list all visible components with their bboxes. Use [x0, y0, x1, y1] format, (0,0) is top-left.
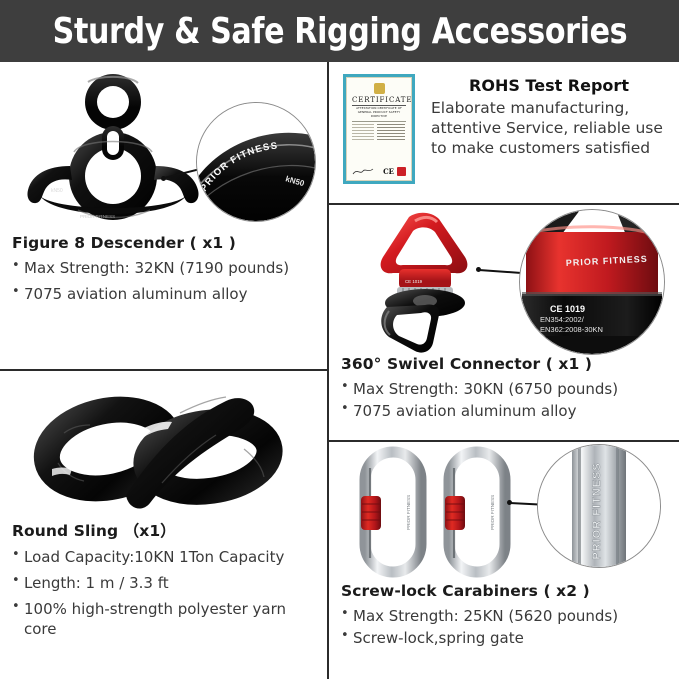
info-cell-rohs: CERTIFICATE ATTESTATION CERTIFICATE OF G…	[329, 64, 679, 203]
svg-text:kN50: kN50	[51, 188, 63, 194]
svg-text:CE 1019: CE 1019	[405, 279, 423, 284]
figure8-photo: kN50 PRIOR FITNESS	[0, 64, 327, 234]
certificate-rule	[352, 121, 406, 122]
sling-bullets: Load Capacity:10KN 1Ton Capacity Length:…	[12, 548, 317, 639]
swivel-magnifier: PRIOR FITNESS CE 1019 EN354:2002/ EN362:…	[519, 209, 665, 355]
carabiner-magnifier: PRIOR FITNESS	[537, 444, 661, 568]
bullet-item: Max Strength: 32KN (7190 pounds)	[12, 259, 317, 278]
carabiners-photo: PRIOR FITNESS PRIOR FITNESS	[329, 442, 679, 582]
figure8-title: Figure 8 Descender ( x1 )	[12, 234, 317, 252]
svg-text:CE 1019: CE 1019	[550, 304, 585, 314]
figure8-text-block: Figure 8 Descender ( x1 ) Max Strength: …	[0, 234, 327, 304]
header-banner: Sturdy & Safe Rigging Accessories	[0, 0, 679, 62]
certificate-row	[352, 124, 406, 125]
certificate-seal-icon	[374, 83, 385, 94]
figure8-descender-illustration: kN50 PRIOR FITNESS	[18, 70, 208, 230]
bullet-item: 7075 aviation aluminum alloy	[341, 402, 669, 421]
rohs-title: ROHS Test Report	[431, 76, 667, 95]
bullet-item: Length: 1 m / 3.3 ft	[12, 574, 317, 593]
bullet-item: Load Capacity:10KN 1Ton Capacity	[12, 548, 317, 567]
swivel-connector-illustration: CE 1019	[347, 211, 497, 353]
certificate-row	[352, 133, 406, 134]
bullet-item: Max Strength: 25KN (5620 pounds)	[341, 607, 669, 626]
bullet-item: Screw-lock,spring gate	[341, 629, 669, 648]
swivel-bullets: Max Strength: 30KN (6750 pounds) 7075 av…	[341, 380, 669, 421]
rohs-text-block: ROHS Test Report Elaborate manufacturing…	[431, 74, 667, 158]
rohs-description: Elaborate manufacturing, attentive Servi…	[431, 98, 667, 158]
carabiners-text-block: Screw-lock Carabiners ( x2 ) Max Strengt…	[329, 582, 679, 648]
round-sling-illustration	[30, 383, 300, 513]
carabiner-illustration-2: PRIOR FITNESS	[439, 446, 515, 578]
signature-mark-icon	[352, 166, 374, 176]
swivel-text-block: 360° Swivel Connector ( x1 ) Max Strengt…	[329, 355, 679, 421]
bullet-item: Max Strength: 30KN (6750 pounds)	[341, 380, 669, 399]
certificate-row	[352, 139, 406, 140]
product-cell-figure8: kN50 PRIOR FITNESS	[0, 64, 327, 369]
ce-mark-label: CE	[383, 167, 394, 176]
certificate-heading: CERTIFICATE	[352, 96, 406, 106]
sling-photo	[0, 371, 327, 519]
figure8-bullets: Max Strength: 32KN (7190 pounds) 7075 av…	[12, 259, 317, 304]
certificate-row	[352, 130, 406, 131]
product-cell-carabiners: PRIOR FITNESS PRIOR FITNESS	[329, 442, 679, 679]
swivel-photo: CE 1019	[329, 205, 679, 355]
svg-text:EN362:2008-30KN: EN362:2008-30KN	[540, 325, 603, 334]
bullet-item: 7075 aviation aluminum alloy	[12, 285, 317, 304]
svg-text:PRIOR FITNESS: PRIOR FITNESS	[490, 495, 495, 530]
figure8-magnifier: PRIOR FITNESS kN50	[196, 102, 316, 222]
certificate-thumbnail: CERTIFICATE ATTESTATION CERTIFICATE OF G…	[343, 74, 415, 184]
carabiners-title: Screw-lock Carabiners ( x2 )	[341, 582, 669, 600]
swivel-title: 360° Swivel Connector ( x1 )	[341, 355, 669, 373]
certificate-footer: CE	[352, 166, 406, 176]
svg-text:EN354:2002/: EN354:2002/	[540, 315, 585, 324]
sling-text-block: Round Sling （x1） Load Capacity:10KN 1Ton…	[0, 519, 327, 639]
carabiners-bullets: Max Strength: 25KN (5620 pounds) Screw-l…	[341, 607, 669, 648]
svg-text:PRIOR FITNESS: PRIOR FITNESS	[591, 462, 603, 559]
svg-text:PRIOR FITNESS: PRIOR FITNESS	[80, 214, 115, 219]
sling-title: Round Sling （x1）	[12, 519, 317, 541]
red-certification-icon	[397, 167, 406, 176]
product-cell-sling: Round Sling （x1） Load Capacity:10KN 1Ton…	[0, 371, 327, 679]
carabiner-illustration-1: PRIOR FITNESS	[355, 446, 431, 578]
infographic-page: Sturdy & Safe Rigging Accessories	[0, 0, 679, 679]
certificate-subtitle-2: GENERAL PRODUCT SAFETY DIRECTIVE	[352, 111, 406, 119]
certificate-row	[352, 136, 406, 137]
page-title: Sturdy & Safe Rigging Accessories	[52, 11, 627, 52]
svg-text:PRIOR FITNESS: PRIOR FITNESS	[406, 495, 411, 530]
product-cell-swivel: CE 1019	[329, 205, 679, 440]
certificate-row	[352, 127, 406, 128]
bullet-item: 100% high-strength polyester yarn core	[12, 600, 317, 638]
